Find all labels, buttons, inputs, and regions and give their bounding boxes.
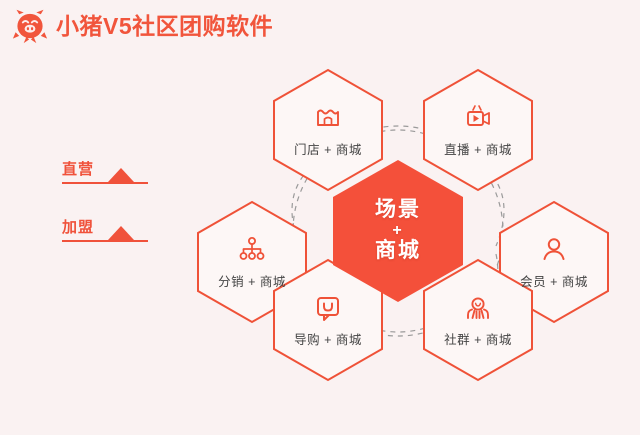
node-community[interactable]: 社群 + 商城 bbox=[422, 258, 534, 382]
side-label-franchise: 加盟 bbox=[62, 218, 152, 258]
hub-line-1: 场景 bbox=[375, 199, 421, 222]
storefront-icon bbox=[313, 103, 343, 133]
hexagon-network-diagram: 门店 + 商城 直播 + 商城 bbox=[160, 58, 630, 388]
pig-mascot-icon bbox=[12, 8, 48, 44]
infographic-canvas: 小猪V5社区团购软件 直营 加盟 bbox=[0, 0, 640, 435]
node-live-label: 直播 + 商城 bbox=[444, 139, 512, 158]
side-label-direct: 直营 bbox=[62, 160, 152, 200]
triangle-marker-icon bbox=[108, 168, 134, 182]
brand-header: 小猪V5社区团购软件 bbox=[12, 8, 273, 44]
brand-name: 小猪V5社区团购软件 bbox=[56, 15, 273, 38]
person-icon bbox=[539, 235, 569, 265]
node-community-label: 社群 + 商城 bbox=[444, 329, 512, 348]
chat-smile-icon bbox=[313, 293, 343, 323]
node-store[interactable]: 门店 + 商城 bbox=[272, 68, 384, 192]
hub-line-2: 商城 bbox=[375, 240, 421, 263]
node-store-label: 门店 + 商城 bbox=[294, 139, 362, 158]
triangle-marker-icon bbox=[108, 226, 134, 240]
side-label-franchise-text: 加盟 bbox=[62, 218, 94, 238]
node-guide-label: 导购 + 商城 bbox=[294, 329, 362, 348]
distribution-tree-icon bbox=[237, 235, 267, 265]
community-group-icon bbox=[463, 293, 493, 323]
live-video-icon bbox=[463, 103, 493, 133]
node-live[interactable]: 直播 + 商城 bbox=[422, 68, 534, 192]
side-label-direct-rule bbox=[62, 182, 148, 184]
side-label-direct-text: 直营 bbox=[62, 160, 94, 180]
node-guide[interactable]: 导购 + 商城 bbox=[272, 258, 384, 382]
hub-plus-sign: + bbox=[375, 222, 421, 240]
side-label-franchise-rule bbox=[62, 240, 148, 242]
